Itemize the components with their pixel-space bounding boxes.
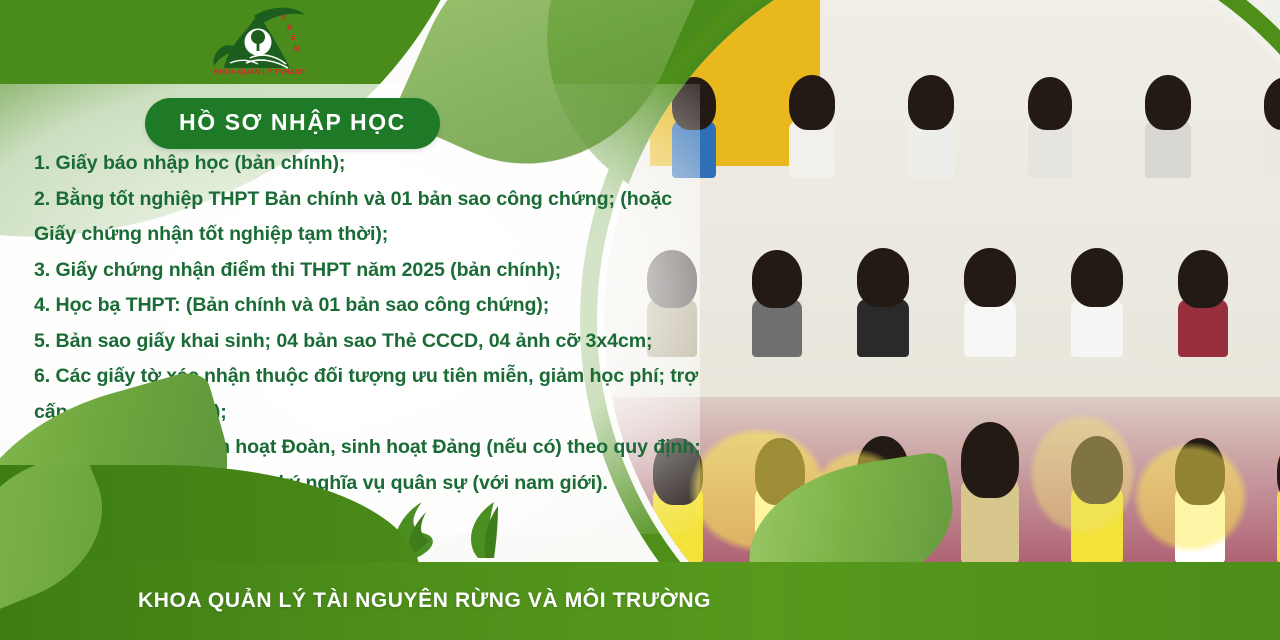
list-item-number: 4.: [34, 294, 50, 316]
list-item: 2. Bằng tốt nghiệp THPT Bản chính và 01 …: [34, 182, 774, 218]
logo-caption: KHOA QUẢN LÝ TNR&MT: [206, 67, 314, 76]
list-item-text: Giấy báo nhập học (bản chính);: [56, 152, 346, 174]
list-item-text: Giấy chứng nhận tốt nghiệp tạm thời);: [34, 223, 388, 245]
list-item-text: Bản sao giấy khai sinh; 04 bản sao Thẻ C…: [56, 330, 653, 352]
list-item: 5. Bản sao giấy khai sinh; 04 bản sao Th…: [34, 324, 774, 360]
list-item-text: Học bạ THPT: (Bản chính và 01 bản sao cô…: [56, 294, 550, 316]
svg-text:F: F: [282, 15, 287, 22]
poster-root: F R E M KHOA QUẢN LÝ TNR&MT HỒ SƠ NHẬP H…: [0, 0, 1280, 640]
list-item-number: 1.: [34, 152, 50, 174]
list-item: 3. Giấy chứng nhận điểm thi THPT năm 202…: [34, 253, 774, 289]
list-item-number: 6.: [34, 365, 50, 387]
list-item-number: 5.: [34, 330, 50, 352]
list-item-text: Bằng tốt nghiệp THPT Bản chính và 01 bản…: [56, 188, 673, 210]
svg-text:E: E: [291, 35, 296, 42]
list-item-number: 2.: [34, 188, 50, 210]
leaf-glyph: [471, 502, 498, 558]
list-item: 1. Giấy báo nhập học (bản chính);: [34, 146, 774, 182]
list-item-text: Giấy chứng nhận điểm thi THPT năm 2025 (…: [56, 259, 562, 281]
list-item-continuation: Giấy chứng nhận tốt nghiệp tạm thời);: [34, 217, 774, 253]
list-item-number: 3.: [34, 259, 50, 281]
list-item: 4. Học bạ THPT: (Bản chính và 01 bản sao…: [34, 288, 774, 324]
svg-text:R: R: [287, 25, 292, 32]
footer-banner-label-wrap: KHOA QUẢN LÝ TÀI NGUYÊN RỪNG VÀ MÔI TRƯỜ…: [0, 562, 1280, 640]
footer-banner-label: KHOA QUẢN LÝ TÀI NGUYÊN RỪNG VÀ MÔI TRƯỜ…: [138, 589, 711, 613]
svg-text:M: M: [294, 46, 300, 53]
page-title-pill: HỒ SƠ NHẬP HỌC: [145, 98, 440, 149]
